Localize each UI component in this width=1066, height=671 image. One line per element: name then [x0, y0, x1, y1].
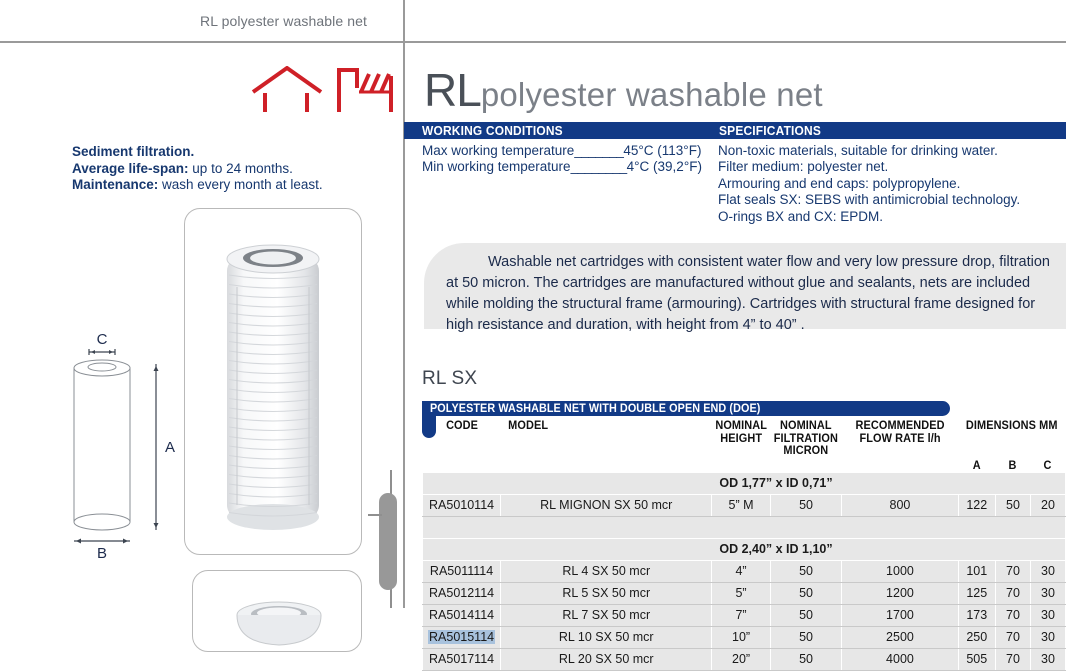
wc-value: 4°C (39,2°F)	[627, 159, 702, 174]
dim-label-c: C	[97, 332, 108, 348]
cell-micron: 50	[770, 561, 842, 583]
cell-flow: 1000	[842, 561, 958, 583]
left-info-label: Maintenance:	[72, 177, 158, 192]
column-divider	[403, 0, 405, 608]
th-dim-c: C	[1031, 458, 1064, 473]
table-body: OD 1,77” x ID 0,71”RA5010114RL MIGNON SX…	[423, 473, 1066, 671]
filter-cartridge-image	[219, 227, 327, 537]
cell-micron: 50	[770, 627, 842, 649]
datasheet-page: RL polyester washable net	[0, 0, 1066, 608]
th-flow: RECOMMENDEDFLOW RATE l/h	[845, 418, 955, 458]
cell-height: 5” M	[712, 495, 770, 517]
left-info-label: Sediment filtration.	[72, 144, 194, 159]
cell-height: 10”	[712, 627, 770, 649]
cell-dim-c: 30	[1030, 561, 1065, 583]
description-text: Washable net cartridges with consistent …	[446, 252, 1050, 336]
left-info-row: Sediment filtration.	[72, 144, 392, 161]
filter-cartridge-image-secondary	[233, 585, 325, 655]
cell-micron: 50	[770, 649, 842, 671]
wc-dots: ________	[571, 159, 627, 174]
dim-label-b: B	[97, 545, 107, 562]
wc-value: 45°C (113°F)	[623, 143, 701, 158]
left-info-value: wash every month at least.	[158, 177, 322, 192]
table-group-row: OD 1,77” x ID 0,71”	[423, 473, 1066, 495]
table-spacer	[423, 517, 1066, 539]
cell-code: RA5011114	[423, 561, 501, 583]
cell-model: RL 10 SX 50 mcr	[501, 627, 712, 649]
cell-dim-b: 70	[995, 561, 1030, 583]
cell-dim-c: 30	[1030, 627, 1065, 649]
spec-line: Non-toxic materials, suitable for drinki…	[718, 143, 1066, 159]
scrollbar-thumb[interactable]	[379, 493, 397, 590]
cell-model: RL MIGNON SX 50 mcr	[501, 495, 712, 517]
cell-dim-c: 30	[1030, 649, 1065, 671]
th-dim-a: A	[959, 458, 995, 473]
cell-code: RA5017114	[423, 649, 501, 671]
cell-model: RL 4 SX 50 mcr	[501, 561, 712, 583]
working-conditions-row: Min working temperature________4°C (39,2…	[422, 159, 722, 175]
cell-dim-a: 101	[958, 561, 995, 583]
table-group-label: OD 1,77” x ID 0,71”	[423, 473, 1066, 495]
wc-label: Max working temperature	[422, 143, 574, 159]
specifications-heading: SPECIFICATIONS	[719, 123, 821, 138]
section-title: RL SX	[422, 368, 477, 390]
th-model: MODEL	[506, 418, 707, 458]
running-header: RL polyester washable net	[0, 0, 1066, 42]
cell-micron: 50	[770, 583, 842, 605]
working-conditions-row: Max working temperature_______45°C (113°…	[422, 143, 722, 159]
scrollbar-tick	[368, 514, 382, 516]
working-conditions-list: Max working temperature_______45°C (113°…	[422, 143, 722, 175]
product-photo-frame	[184, 208, 362, 555]
left-info-label: Average life-span:	[72, 161, 189, 176]
cell-dim-b: 70	[995, 627, 1030, 649]
cell-flow: 800	[842, 495, 958, 517]
left-info-value: up to 24 months.	[189, 161, 293, 176]
dimension-drawing: C B A	[58, 332, 208, 562]
th-micron: NOMINALFILTRATIONMICRON	[772, 418, 840, 458]
cell-dim-a: 250	[958, 627, 995, 649]
cell-dim-b: 50	[995, 495, 1030, 517]
table-band: POLYESTER WASHABLE NET WITH DOUBLE OPEN …	[422, 401, 950, 416]
table-row[interactable]: RA5010114RL MIGNON SX 50 mcr5” M50800122…	[423, 495, 1066, 517]
table-band-title: POLYESTER WASHABLE NET WITH DOUBLE OPEN …	[430, 401, 760, 415]
table-header: CODE MODEL NOMINALHEIGHT NOMINALFILTRATI…	[423, 418, 1066, 473]
cell-dim-b: 70	[995, 583, 1030, 605]
table-row[interactable]: RA5011114RL 4 SX 50 mcr4”5010001017030	[423, 561, 1066, 583]
cell-height: 20”	[712, 649, 770, 671]
th-dim-b: B	[996, 458, 1029, 473]
cell-dim-a: 505	[958, 649, 995, 671]
products-table: CODE MODEL NOMINALHEIGHT NOMINALFILTRATI…	[422, 418, 1066, 671]
description-panel: Washable net cartridges with consistent …	[424, 243, 1066, 329]
table-row[interactable]: RA5017114RL 20 SX 50 mcr20”5040005057030	[423, 649, 1066, 671]
th-height: NOMINALHEIGHT	[713, 418, 768, 458]
dim-label-a: A	[165, 439, 175, 456]
header-divider	[0, 41, 1066, 43]
page-title-code: RL	[424, 64, 481, 116]
cell-flow: 2500	[842, 627, 958, 649]
description-body: Washable net cartridges with consistent …	[446, 254, 1050, 333]
table-group-label: OD 2,40” x ID 1,10”	[423, 539, 1066, 561]
house-roof-icon	[253, 68, 321, 112]
cell-model: RL 5 SX 50 mcr	[501, 583, 712, 605]
page-title-name: polyester washable net	[481, 76, 823, 113]
cell-code: RA5012114	[423, 583, 501, 605]
cell-model: RL 20 SX 50 mcr	[501, 649, 712, 671]
th-code: CODE	[424, 418, 498, 458]
spec-line: O-rings BX and CX: EPDM.	[718, 209, 1066, 225]
text-selection-highlight: RA5015114	[428, 630, 495, 644]
spec-line: Armouring and end caps: polypropylene.	[718, 176, 1066, 192]
table-row[interactable]: RA5012114RL 5 SX 50 mcr5”5012001257030	[423, 583, 1066, 605]
cell-dim-b: 70	[995, 649, 1030, 671]
cell-dim-a: 122	[958, 495, 995, 517]
left-info-row: Maintenance: wash every month at least.	[72, 177, 392, 194]
cell-dim-c: 20	[1030, 495, 1065, 517]
cell-height: 5”	[712, 583, 770, 605]
specifications-list: Non-toxic materials, suitable for drinki…	[718, 143, 1066, 225]
cell-flow: 4000	[842, 649, 958, 671]
product-photo-frame-secondary	[192, 570, 362, 652]
cell-code: RA5015114	[423, 627, 501, 649]
working-conditions-heading: WORKING CONDITIONS	[422, 123, 563, 138]
wc-dots: _______	[574, 143, 623, 158]
table-group-row: OD 2,40” x ID 1,10”	[423, 539, 1066, 561]
cell-dim-c: 30	[1030, 583, 1065, 605]
cell-code: RA5010114	[423, 495, 501, 517]
section-band: WORKING CONDITIONS SPECIFICATIONS	[404, 122, 1066, 139]
running-header-title: RL polyester washable net	[200, 13, 367, 29]
table-row[interactable]: RA5015114RL 10 SX 50 mcr10”5025002507030	[423, 627, 1066, 649]
cell-height: 4”	[712, 561, 770, 583]
wc-label: Min working temperature	[422, 159, 571, 175]
page-title: RLpolyester washable net	[424, 66, 823, 119]
factory-building-icon	[339, 70, 393, 112]
cell-micron: 50	[770, 495, 842, 517]
spec-line: Flat seals SX: SEBS with antimicrobial t…	[718, 192, 1066, 208]
th-dimensions: DIMENSIONS MM	[961, 418, 1063, 458]
left-info-row: Average life-span: up to 24 months.	[72, 161, 392, 178]
left-info-block: Sediment filtration. Average life-span: …	[72, 144, 392, 194]
cell-dim-a: 125	[958, 583, 995, 605]
cell-flow: 1200	[842, 583, 958, 605]
spec-line: Filter medium: polyester net.	[718, 159, 1066, 175]
application-icons	[247, 66, 397, 114]
